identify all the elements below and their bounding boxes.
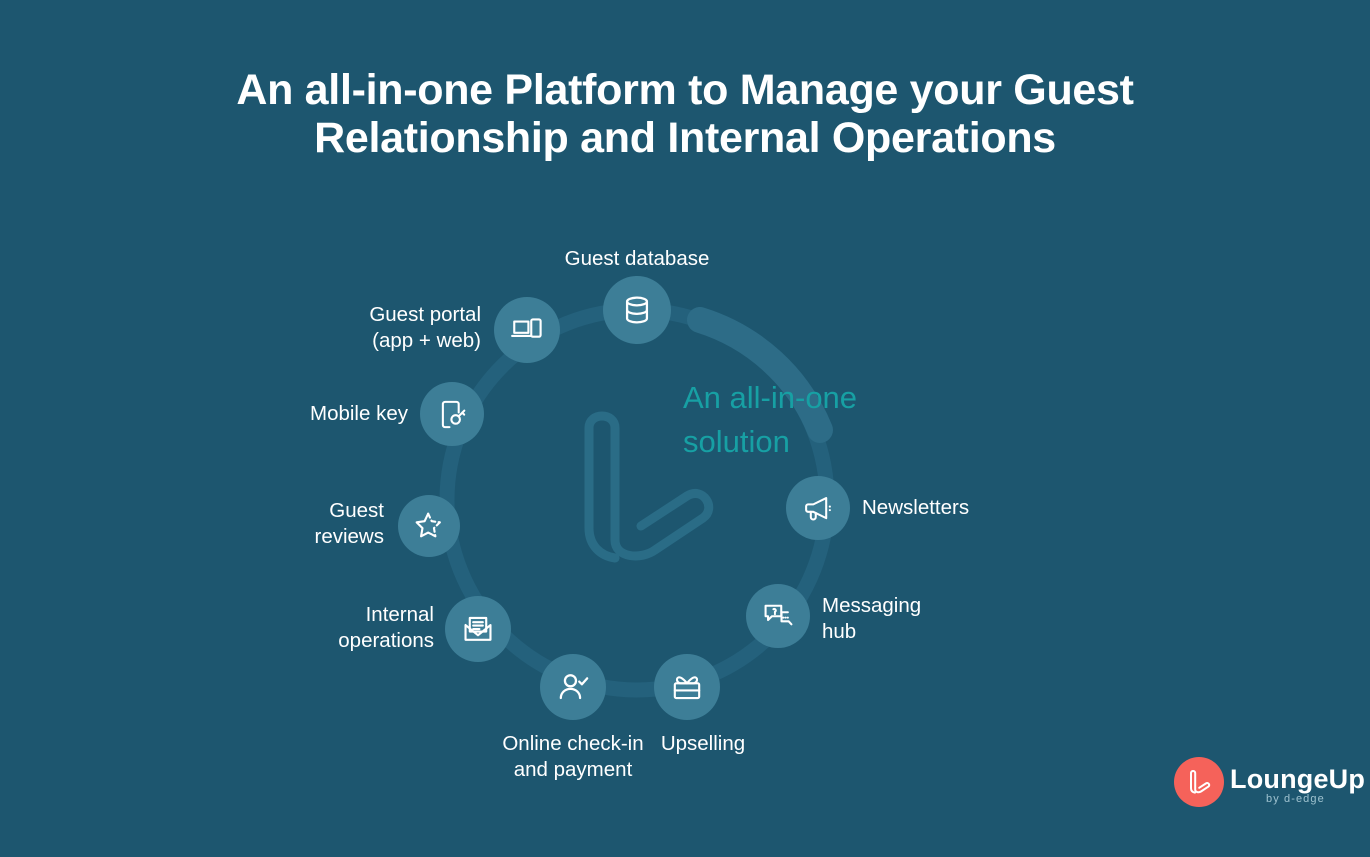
star-icon <box>412 509 446 543</box>
node-internal-operations-label: Internal operations <box>178 602 434 654</box>
label-line-1: Guest <box>128 498 384 524</box>
circular-diagram: An all-in-one solution Guest database <box>0 0 1370 857</box>
label-line-2: operations <box>178 628 434 654</box>
label-line-2: reviews <box>128 524 384 550</box>
person-check-icon <box>556 670 590 704</box>
loungeup-l-mark-icon <box>1174 757 1224 807</box>
loungeup-tagline: by d-edge <box>1266 793 1325 805</box>
node-upselling-label: Upselling <box>562 731 844 757</box>
node-guest-reviews-circle[interactable] <box>398 495 460 557</box>
label-line-1: Mobile key <box>152 401 408 427</box>
node-online-checkin-payment-circle[interactable] <box>540 654 606 720</box>
gift-icon <box>670 670 704 704</box>
node-newsletters-label: Newsletters <box>862 495 1082 521</box>
envelope-document-icon <box>461 612 495 646</box>
database-icon <box>620 293 654 327</box>
label-line-1: Guest portal <box>225 302 481 328</box>
label-line-2: and payment <box>432 757 714 783</box>
node-messaging-hub-circle[interactable] <box>746 584 810 648</box>
label-line-1: Messaging <box>822 593 1042 619</box>
node-mobile-key-circle[interactable] <box>420 382 484 446</box>
chat-bubbles-icon <box>762 600 795 633</box>
label-line-2: hub <box>822 619 1042 645</box>
node-guest-database-label: Guest database <box>497 246 777 272</box>
node-guest-portal-circle[interactable] <box>494 297 560 363</box>
slide-canvas: An all-in-one Platform to Manage your Gu… <box>0 0 1370 857</box>
label-line-1: Guest database <box>497 246 777 272</box>
node-upselling-circle[interactable] <box>654 654 720 720</box>
loungeup-wordmark: LoungeUp <box>1230 764 1365 795</box>
center-line-1: An all-in-one <box>683 376 933 420</box>
node-guest-portal-label: Guest portal (app + web) <box>225 302 481 354</box>
label-line-1: Newsletters <box>862 495 1082 521</box>
label-line-1: Internal <box>178 602 434 628</box>
loungeup-logo[interactable]: LoungeUp by d-edge <box>1174 757 1344 809</box>
phone-key-icon <box>436 398 469 431</box>
laptop-phone-icon <box>510 313 544 347</box>
node-messaging-hub-label: Messaging hub <box>822 593 1042 645</box>
label-line-1: Upselling <box>562 731 844 757</box>
megaphone-icon <box>802 492 835 525</box>
node-internal-operations-circle[interactable] <box>445 596 511 662</box>
node-guest-reviews-label: Guest reviews <box>128 498 384 550</box>
center-headline: An all-in-one solution <box>683 376 933 464</box>
node-newsletters-circle[interactable] <box>786 476 850 540</box>
node-guest-database-circle[interactable] <box>603 276 671 344</box>
center-line-2: solution <box>683 420 933 464</box>
label-line-2: (app + web) <box>225 328 481 354</box>
node-mobile-key-label: Mobile key <box>152 401 408 427</box>
